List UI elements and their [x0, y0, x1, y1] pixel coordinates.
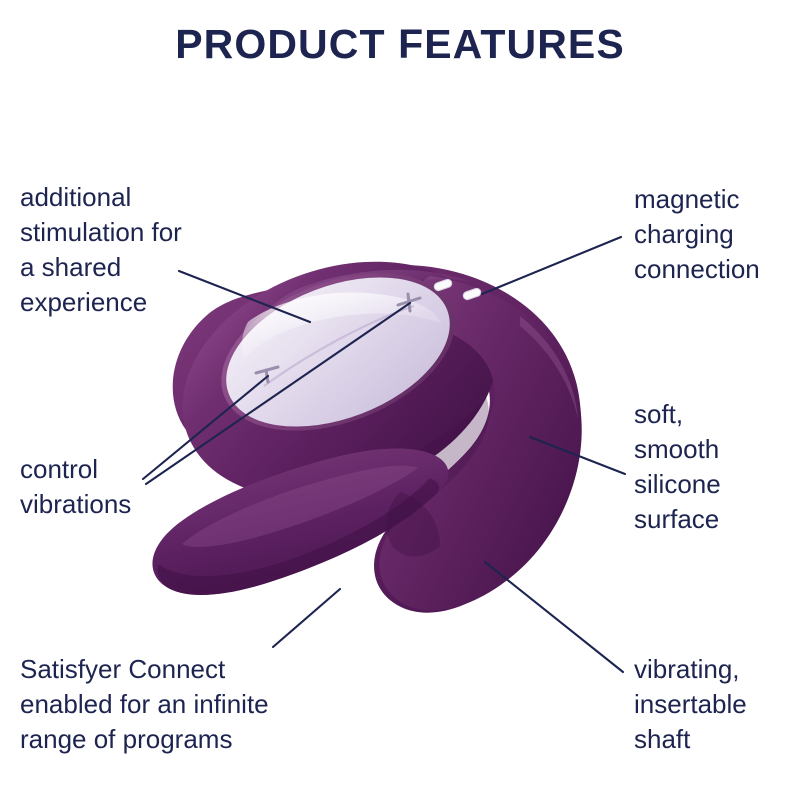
callout-label-vibrating-insertable-shaft: vibrating, insertable shaft — [634, 652, 800, 757]
callout-label-magnetic-charging: magnetic charging connection — [634, 182, 800, 287]
leader-satisfyer-connect — [273, 589, 340, 647]
product-features-infographic: PRODUCT FEATURES additional stimulation … — [0, 0, 800, 800]
callout-label-satisfyer-connect: Satisfyer Connect enabled for an infinit… — [20, 652, 360, 757]
callout-label-soft-smooth-silicone: soft, smooth silicone surface — [634, 397, 800, 537]
page-title: PRODUCT FEATURES — [0, 21, 800, 67]
callout-label-control-vibrations: control vibrations — [20, 452, 240, 522]
leader-magnetic-charging — [482, 237, 621, 294]
leader-vibrating-insertable-shaft — [485, 562, 623, 672]
callout-label-additional-stimulation: additional stimulation for a shared expe… — [20, 180, 270, 320]
